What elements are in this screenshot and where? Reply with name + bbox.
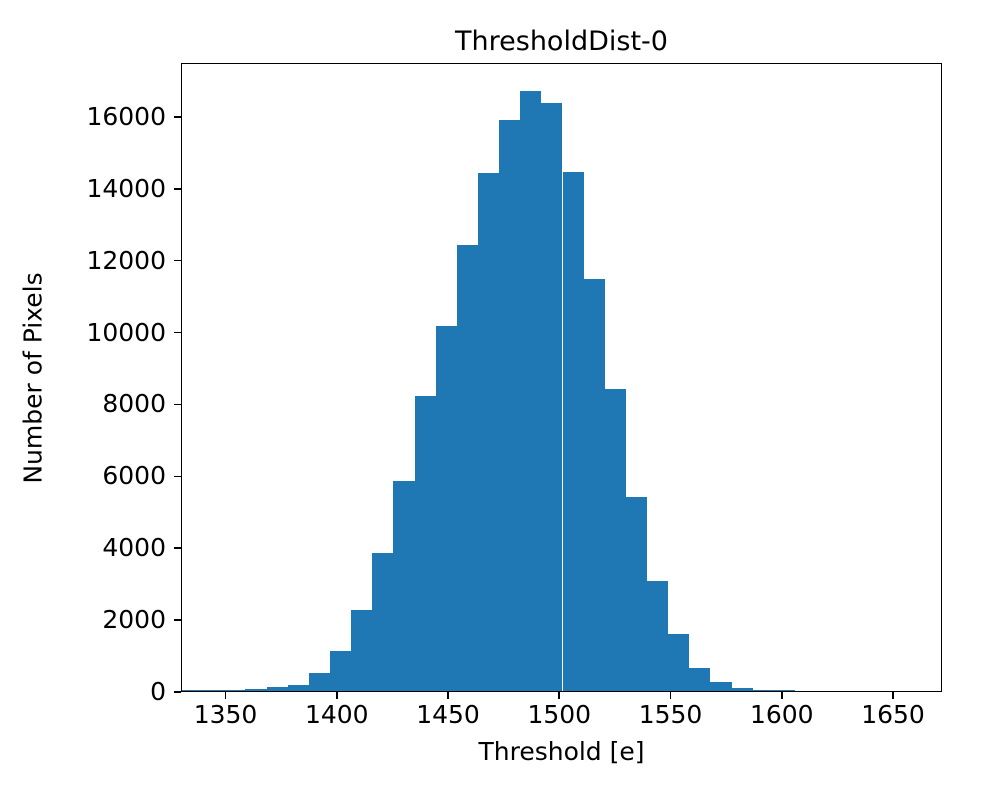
- x-tick-mark: [558, 692, 560, 699]
- y-tick-mark: [174, 691, 181, 693]
- histogram-figure: ThresholdDist-0 135014001450150015501600…: [0, 0, 1000, 800]
- histogram-bar: [499, 120, 520, 691]
- x-tick-label: 1400: [277, 700, 397, 730]
- x-tick-mark: [225, 692, 227, 699]
- x-tick-label: 1550: [611, 700, 731, 730]
- y-tick-mark: [174, 476, 181, 478]
- x-tick-mark: [447, 692, 449, 699]
- x-tick-mark: [892, 692, 894, 699]
- histogram-bar: [626, 497, 647, 691]
- histogram-bar: [182, 690, 203, 691]
- x-tick-label: 1500: [499, 700, 619, 730]
- histogram-bar: [457, 245, 478, 691]
- histogram-bar: [710, 682, 731, 691]
- histogram-bar: [689, 668, 710, 691]
- x-tick-mark: [781, 692, 783, 699]
- plot-area: [181, 63, 942, 692]
- histogram-bar: [393, 481, 414, 691]
- x-tick-label: 1350: [166, 700, 286, 730]
- y-tick-mark: [174, 116, 181, 118]
- histogram-bars: [182, 64, 941, 691]
- y-tick-mark: [174, 404, 181, 406]
- histogram-bar: [288, 685, 309, 691]
- x-tick-mark: [670, 692, 672, 699]
- y-tick-mark: [174, 547, 181, 549]
- y-tick-mark: [174, 332, 181, 334]
- histogram-bar: [668, 634, 689, 692]
- histogram-bar: [584, 279, 605, 691]
- histogram-bar: [605, 389, 626, 691]
- histogram-bar: [478, 173, 499, 691]
- histogram-bar: [774, 690, 795, 691]
- histogram-bar: [267, 687, 288, 691]
- histogram-bar: [330, 651, 351, 691]
- histogram-bar: [203, 690, 224, 691]
- histogram-bar: [309, 673, 330, 691]
- y-tick-mark: [174, 188, 181, 190]
- y-axis-label: Number of Pixels: [19, 64, 49, 693]
- x-tick-label: 1650: [833, 700, 953, 730]
- histogram-bar: [415, 396, 436, 691]
- x-tick-mark: [336, 692, 338, 699]
- histogram-bar: [563, 172, 584, 691]
- y-tick-mark: [174, 260, 181, 262]
- histogram-bar: [520, 91, 541, 691]
- histogram-bar: [372, 553, 393, 691]
- histogram-bar: [541, 103, 562, 691]
- histogram-bar: [351, 610, 372, 691]
- histogram-bar: [753, 690, 774, 691]
- x-axis-label: Threshold [e]: [181, 737, 942, 767]
- histogram-bar: [647, 581, 668, 691]
- histogram-bar: [224, 690, 245, 691]
- x-tick-label: 1450: [388, 700, 508, 730]
- histogram-bar: [732, 688, 753, 691]
- histogram-bar: [436, 326, 457, 691]
- y-tick-mark: [174, 619, 181, 621]
- x-tick-label: 1600: [722, 700, 842, 730]
- chart-title: ThresholdDist-0: [181, 26, 942, 58]
- histogram-bar: [245, 689, 266, 691]
